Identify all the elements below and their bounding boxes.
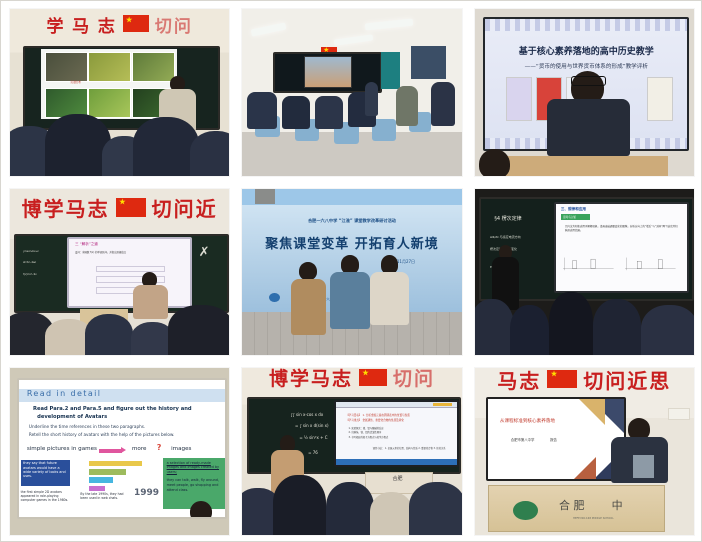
- slide-bottom-left-text: the first simple 2D avatars appeared in …: [21, 490, 75, 502]
- microphone-stand: [633, 455, 655, 478]
- slide-right-callout-body: they can talk, walk, fly around, meet pe…: [167, 478, 221, 492]
- slide-task-line-2: development of Avatars: [37, 414, 107, 420]
- bar-item: [89, 469, 126, 474]
- chalkboard-note: y=ax²+bx+c: [23, 249, 39, 253]
- slide-heading-band: [19, 389, 225, 403]
- collage-page: 学 马 志 切问 红壤分布: [0, 0, 702, 542]
- photo-cell-8[interactable]: 博学马志 切问 ∫∫ sin x·cos x dx = ∫ sin x d(si…: [242, 368, 461, 535]
- slide-hint-1: Underline the time references in these t…: [29, 424, 145, 429]
- banner-text: 学 马 志: [46, 12, 116, 37]
- photo-5-content: 合肥一六八中学 “江淮” 课堂教学改革研讨活动 聚焦课堂变革 开拓育人新境 20…: [242, 189, 461, 356]
- banner-text-right: 切问近思: [583, 368, 671, 393]
- slide-line-1: 【学习目标】 1. 分析金属元素在周期表中的位置与性质: [346, 413, 410, 417]
- slide-tile: [88, 88, 131, 118]
- person-head: [381, 255, 399, 273]
- student-silhouette: [315, 96, 344, 129]
- slide-bottom-mid-text: By the late 1990s, they had been used in…: [80, 492, 129, 500]
- backdrop-top-line: 合肥一六八中学 “江淮” 课堂教学改革研讨活动: [308, 218, 396, 224]
- student-silhouette: [45, 114, 111, 176]
- photo-cell-9[interactable]: 马志 切问近思 从课程标准到核心素养落地 合肥市第八中学 报告: [475, 368, 694, 535]
- slide-hint-2: Retell the short history of avatars with…: [29, 432, 174, 437]
- student-silhouette: [510, 305, 549, 355]
- banner-text-right: 切问近: [152, 193, 218, 222]
- photo-6-content: §4 楞次定律 ΔΦ/Δt 与感应电流方向 楞次定律：阻碍变化 E = n ΔΦ…: [475, 189, 694, 356]
- student-silhouette: [475, 299, 514, 356]
- bar-item: [89, 486, 105, 491]
- projection-screen: 【学习目标】 1. 分析金属元素在周期表中的位置与性质 【学习重点】 金属通性、…: [334, 400, 459, 467]
- slide-line-2: 【学习重点】 金属通性、重要化合物的性质及转化: [346, 418, 404, 422]
- slide-list-item: 2. 归纳钠、镁、铝的活泼性顺序: [349, 430, 382, 434]
- person-head: [299, 262, 317, 280]
- photo-7-content: Read in detail Read Para.2 and Para.5 an…: [10, 368, 229, 535]
- student-silhouette: [549, 292, 593, 355]
- slide-section: 三、规律和应用: [561, 207, 586, 212]
- photo-8-content: 博学马志 切问 ∫∫ sin x·cos x dx = ∫ sin x d(si…: [242, 368, 461, 535]
- photo-4-content: 博学马志 切问近 y=ax²+bx+c Δ=b²−4ac f(x)=x³−3x …: [10, 189, 229, 356]
- china-flag-icon: [359, 369, 387, 386]
- photo-cell-2[interactable]: [242, 9, 461, 176]
- os-taskbar[interactable]: [336, 459, 457, 465]
- photo-9-content: 马志 切问近思 从课程标准到核心素养落地 合肥市第八中学 报告: [475, 368, 694, 535]
- slide-title: 从课程标准到核心素养落地: [500, 418, 555, 424]
- wall-sign: [668, 408, 690, 420]
- projection-screen: 三、规律和应用 思考与讨论 几何法为何能适用于解释现象，请画出磁通量变化的图像，…: [554, 202, 690, 293]
- photo-3-content: 基于核心素养落地的高中历史教学 ——“货币的使用与世界货币体系的形成”教学评析: [475, 9, 694, 176]
- slide-tile: [132, 52, 175, 82]
- slide-presenter: 合肥市第八中学: [511, 437, 535, 442]
- slide-figure-2: [624, 246, 677, 281]
- slide-question-mark: ?: [157, 443, 162, 452]
- book-cover: [647, 77, 673, 122]
- photo-cell-7[interactable]: Read in detail Read Para.2 and Para.5 an…: [10, 368, 229, 535]
- podium: 合 肥 中 HEFEI NO.168 MIDDLE SCHOOL: [488, 485, 665, 532]
- bar-item: [89, 461, 143, 466]
- banner-text: 博学马志: [269, 368, 353, 391]
- podium-subtext: HEFEI NO.168 MIDDLE SCHOOL: [573, 517, 614, 520]
- student-silhouette: [409, 482, 462, 535]
- slide-tile: [88, 52, 131, 82]
- building-edge: [255, 189, 275, 204]
- person-head: [341, 255, 359, 273]
- slide-decor-triangle: [579, 399, 605, 425]
- slide-year-label: 1999: [134, 488, 159, 498]
- china-flag-icon: [116, 198, 146, 217]
- student-silhouette: [641, 305, 694, 355]
- presentation-screen: 从课程标准到核心素养落地 合肥市第八中学 报告: [486, 397, 626, 481]
- person-body: [370, 272, 409, 325]
- slide-title: 三 “解析”之道: [75, 242, 98, 247]
- school-logo-icon: [513, 501, 538, 520]
- photo-cell-6[interactable]: §4 楞次定律 ΔΦ/Δt 与感应电流方向 楞次定律：阻碍变化 E = n ΔΦ…: [475, 189, 694, 356]
- slide-subtitle: ——“货币的使用与世界货币体系的形成”教学评析: [525, 62, 648, 70]
- podium: [501, 156, 668, 176]
- bar-item: [89, 477, 114, 482]
- student-silhouette: [326, 482, 374, 535]
- person-body: [291, 279, 326, 336]
- slide-arrow-right-post: images: [171, 446, 191, 452]
- teacher-body: [133, 285, 168, 318]
- banner-text: 马志: [497, 368, 541, 393]
- slide-tag-label: 思考与讨论: [563, 215, 576, 219]
- slide-arrow-left-text: simple pictures in games: [27, 446, 97, 452]
- teacher-standing: [365, 82, 378, 115]
- photo-cell-3[interactable]: 基于核心素养落地的高中历史教学 ——“货币的使用与世界货币体系的形成”教学评析: [475, 9, 694, 176]
- slide-arrow-right-pre: more: [132, 446, 147, 452]
- photo-cell-4[interactable]: 博学马志 切问近 y=ax²+bx+c Δ=b²−4ac f(x)=x³−3x …: [10, 189, 229, 356]
- banner-text-right: 切问: [393, 368, 435, 391]
- window-toolbar-button[interactable]: [433, 403, 452, 406]
- audience-head: [479, 149, 510, 176]
- chalkboard-mark: ✗: [199, 250, 210, 254]
- slide-right-callout: a selection of ready-made images and ima…: [163, 458, 225, 509]
- slide-tile: [45, 52, 88, 82]
- photo-1-content: 学 马 志 切问 红壤分布: [10, 9, 229, 176]
- slide-list-item: 1. 实验探究：镁、铝与酸碱的反应: [349, 426, 384, 430]
- slide-list-item: 3. 书写相应的离子方程式与化学方程式: [349, 435, 389, 439]
- slide-footer: 课堂小结： 1. 金属元素的位置、结构与性质 2. 重要化合物 3. 转化关系: [373, 446, 446, 450]
- wall-plaque-text: 合肥: [392, 475, 402, 482]
- slide-task-line-1: Read Para.2 and Para.5 and figure out th…: [33, 406, 192, 412]
- arrow-right-icon: [99, 449, 122, 453]
- red-banner: 马志 切问近思: [475, 368, 694, 390]
- red-banner: 学 马 志 切问: [10, 12, 229, 35]
- student-silhouette: [190, 131, 229, 176]
- front-monitor: [304, 56, 352, 88]
- student-silhouette: [168, 305, 229, 355]
- student-silhouette: [133, 117, 199, 175]
- student-silhouette: [282, 96, 311, 129]
- podium-text: 合 肥: [559, 497, 585, 513]
- photo-cell-1[interactable]: 学 马 志 切问 红壤分布: [10, 9, 229, 176]
- glasses-icon: [571, 76, 606, 86]
- student-silhouette: [593, 299, 641, 356]
- photo-cell-5[interactable]: 合肥一六八中学 “江淮” 课堂教学改革研讨活动 聚焦课堂变革 开拓育人新境 20…: [242, 189, 461, 356]
- student-silhouette: [370, 492, 414, 535]
- podium-text-right: 中: [612, 497, 623, 513]
- slide-right-callout-title: a selection of ready-made images and ima…: [167, 461, 221, 475]
- projection-screen: 三 “解析”之道 设问：求函数 f(x) 的单调区间，并指出其极值点: [67, 237, 192, 308]
- banner-text-right: 切问: [155, 12, 193, 37]
- slide-role: 报告: [550, 437, 557, 442]
- book-cover: [506, 77, 532, 122]
- backdrop-headline: 聚焦课堂变革 开拓育人新境: [265, 233, 439, 252]
- slide-decor-triangle: [574, 457, 596, 479]
- photo-2-content: [242, 9, 461, 176]
- slide-body: 设问：求函数 f(x) 的单调区间，并指出其极值点: [75, 250, 126, 254]
- english-lesson-slide: Read in detail Read Para.2 and Para.5 an…: [17, 378, 227, 519]
- red-banner: 博学马志 切问近: [10, 194, 229, 222]
- slide-title: 基于核心素养落地的高中历史教学: [519, 44, 654, 57]
- slide-border-pattern-top: [485, 19, 687, 31]
- slide-tag: 思考与讨论: [561, 214, 590, 220]
- slide-answer-box: [96, 266, 166, 273]
- slide-body: 几何法为何能适用于解释现象，请画出磁通量变化的图像，分析方向上的“增反”与“减同…: [565, 224, 678, 232]
- chalkboard-note: f(x)=x³−3x: [23, 272, 37, 276]
- china-flag-icon: [123, 15, 149, 32]
- classroom-door: [381, 52, 401, 89]
- student-silhouette: [273, 475, 326, 535]
- person-body: [330, 272, 369, 329]
- slide-bar-chart: [19, 458, 64, 474]
- banner-text: 博学马志: [22, 193, 110, 222]
- photo-grid: 学 马 志 切问 红壤分布: [10, 9, 694, 535]
- arrow-right-head-icon: [121, 447, 126, 453]
- window-curtain: [411, 46, 446, 79]
- china-flag-icon: [547, 370, 577, 388]
- chalkboard-note: Δ=b²−4ac: [23, 260, 36, 264]
- student-silhouette: [85, 314, 133, 356]
- student-silhouette: [431, 82, 455, 125]
- projection-slide: 红壤分布: [41, 49, 177, 119]
- red-banner: 博学马志 切问: [242, 368, 461, 388]
- presenter-body: [547, 99, 630, 156]
- student-silhouette: [247, 92, 278, 129]
- slide-figure-1: [562, 246, 615, 281]
- student-silhouette: [396, 86, 418, 126]
- audience-head: [190, 501, 213, 519]
- organization-logo: [269, 293, 280, 303]
